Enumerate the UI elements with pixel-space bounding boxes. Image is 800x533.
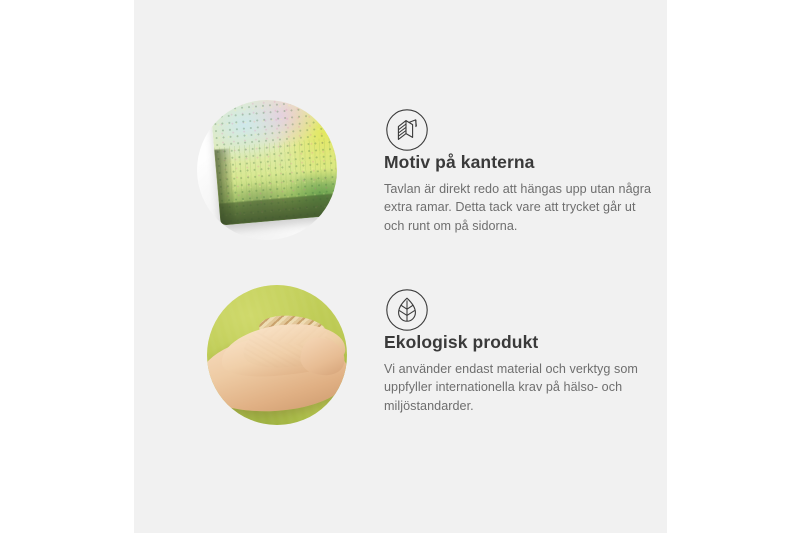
content-panel: Motiv på kanterna Tavlan är direkt redo …: [134, 0, 667, 533]
feature-text-ekologisk-produkt: Ekologisk produkt Vi använder endast mat…: [384, 332, 664, 415]
canvas-print-corner: [210, 100, 337, 226]
canvas-corner-photo: [197, 100, 337, 240]
feature-title: Ekologisk produkt: [384, 332, 664, 353]
feature-block-ekologisk-produkt: Ekologisk produkt Vi använder endast mat…: [134, 266, 667, 533]
meadow-backdrop: [207, 285, 347, 425]
wood-chips-in-hands-photo: [207, 285, 347, 425]
feature-title: Motiv på kanterna: [384, 152, 652, 173]
leaf-icon: [385, 288, 429, 332]
product-feature-banner: Motiv på kanterna Tavlan är direkt redo …: [0, 0, 800, 533]
feature-block-motiv-pa-kanterna: Motiv på kanterna Tavlan är direkt redo …: [134, 0, 667, 266]
feature-description: Tavlan är direkt redo att hängas upp uta…: [384, 180, 652, 235]
canvas-photo-backdrop: [197, 100, 337, 240]
canvas-wrapped-edge-icon: [385, 108, 429, 152]
feature-description: Vi använder endast material och verktyg …: [384, 360, 664, 415]
feature-text-motiv-pa-kanterna: Motiv på kanterna Tavlan är direkt redo …: [384, 152, 652, 235]
